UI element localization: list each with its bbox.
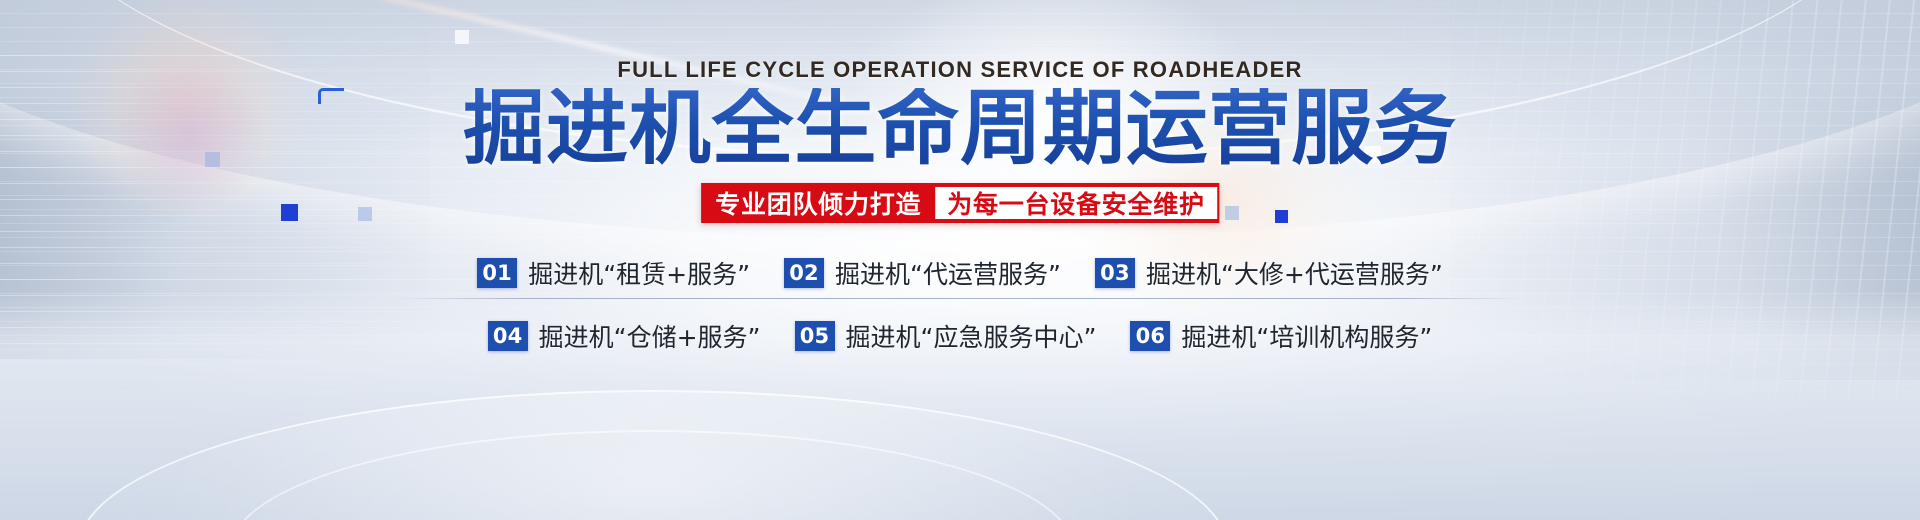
hero-banner: FULL LIFE CYCLE OPERATION SERVICE OF ROA… [0, 0, 1920, 520]
service-label: 掘进机“租赁+服务” [528, 255, 750, 291]
service-list: 01 掘进机“租赁+服务” 02 掘进机“代运营服务” 03 掘进机“大修+代运… [0, 248, 1920, 361]
service-item-05[interactable]: 05 掘进机“应急服务中心” [795, 318, 1097, 354]
service-label: 掘进机“培训机构服务” [1181, 318, 1432, 354]
service-number-badge: 04 [488, 321, 528, 351]
service-label: 掘进机“大修+代运营服务” [1146, 255, 1443, 291]
service-number-badge: 02 [784, 258, 824, 288]
service-label: 掘进机“代运营服务” [835, 255, 1061, 291]
service-item-04[interactable]: 04 掘进机“仓储+服务” [488, 318, 761, 354]
service-row-1: 01 掘进机“租赁+服务” 02 掘进机“代运营服务” 03 掘进机“大修+代运… [0, 248, 1920, 298]
service-divider [395, 298, 1525, 299]
tagline-primary: 专业团队倾力打造 [703, 185, 933, 221]
banner-title: 掘进机全生命周期运营服务 [0, 88, 1920, 170]
banner-content: FULL LIFE CYCLE OPERATION SERVICE OF ROA… [0, 0, 1920, 520]
service-item-01[interactable]: 01 掘进机“租赁+服务” [477, 255, 750, 291]
service-number-badge: 03 [1095, 258, 1135, 288]
tagline-bar: 专业团队倾力打造 为每一台设备安全维护 [701, 183, 1219, 223]
service-label: 掘进机“应急服务中心” [846, 318, 1097, 354]
service-label: 掘进机“仓储+服务” [539, 318, 761, 354]
service-item-02[interactable]: 02 掘进机“代运营服务” [784, 255, 1061, 291]
service-number-badge: 05 [795, 321, 835, 351]
service-item-06[interactable]: 06 掘进机“培训机构服务” [1130, 318, 1432, 354]
banner-eyebrow-english: FULL LIFE CYCLE OPERATION SERVICE OF ROA… [0, 57, 1920, 83]
service-number-badge: 01 [477, 258, 517, 288]
service-item-03[interactable]: 03 掘进机“大修+代运营服务” [1095, 255, 1443, 291]
tagline-secondary: 为每一台设备安全维护 [935, 187, 1217, 219]
service-number-badge: 06 [1130, 321, 1170, 351]
service-row-2: 04 掘进机“仓储+服务” 05 掘进机“应急服务中心” 06 掘进机“培训机构… [0, 311, 1920, 361]
